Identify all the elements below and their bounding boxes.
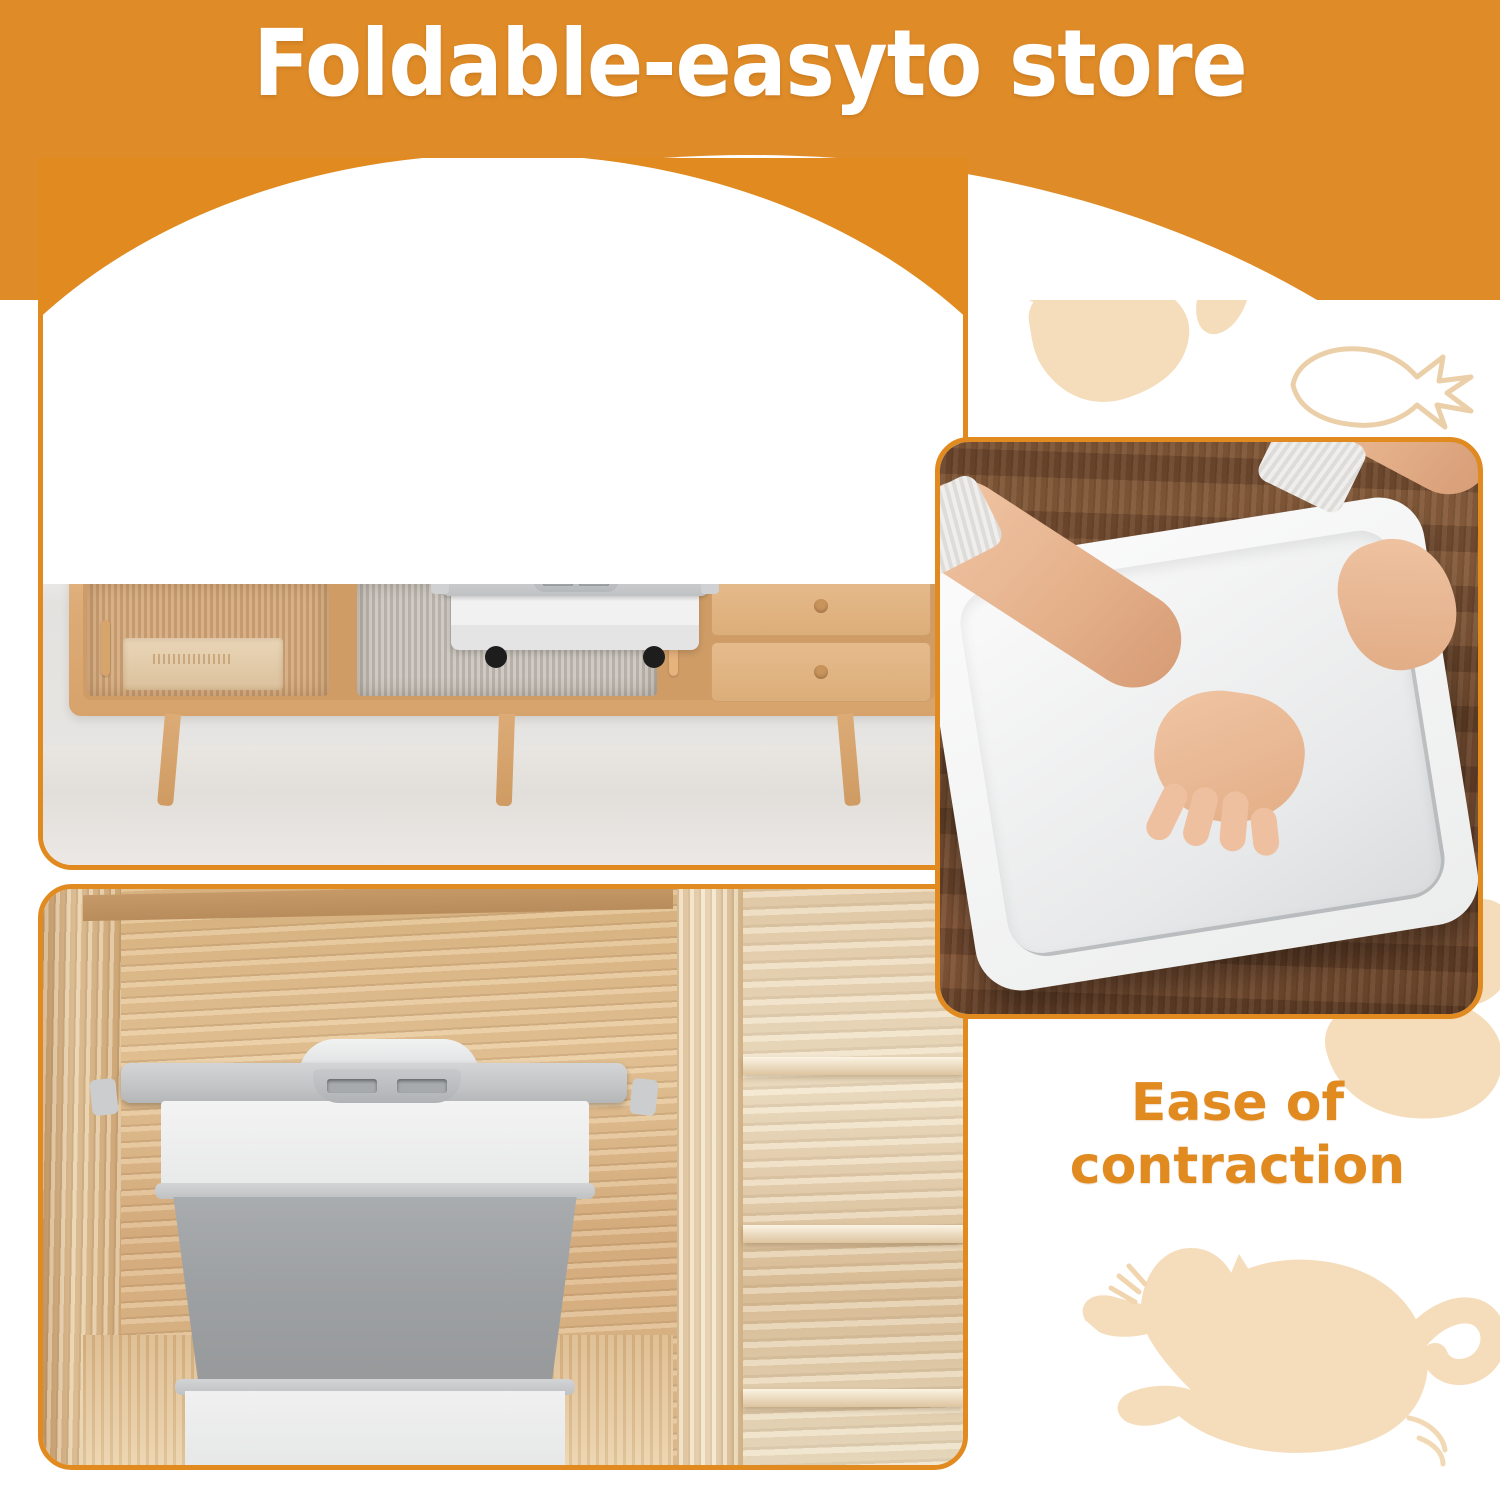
bin-base-section [185, 1391, 565, 1470]
bin-bellows-section [165, 1197, 585, 1385]
panel-bin-in-cabinet [38, 884, 968, 1470]
callout-line-1: Ease of [975, 1072, 1500, 1135]
shelf-board [743, 1389, 963, 1407]
woven-basket [123, 638, 283, 690]
panel-top-curve-mask [38, 158, 968, 348]
page-title: Foldable-easyto store [0, 18, 1500, 110]
cabinet-right-shelving [743, 889, 963, 1465]
bin-upper-section [161, 1101, 589, 1187]
fish-outline-icon [1275, 327, 1485, 437]
shelf-board [743, 1225, 963, 1243]
infographic-canvas: Ease of contraction Nygårds Karin Bengts… [0, 0, 1500, 1493]
panel-living-room-scene: Nygårds Karin Bengtsson Untold Stories F… [38, 158, 968, 870]
callout-line-2: contraction [975, 1135, 1500, 1198]
drawer-stack [711, 576, 931, 702]
cat-silhouette-icon [1015, 1192, 1500, 1492]
shelf-board [743, 1057, 963, 1075]
panel-hands-collapsing-basin [935, 437, 1483, 1019]
collapsible-storage-bin [139, 1057, 609, 1417]
cabinet-handle-left [101, 620, 110, 676]
callout-ease-of-contraction: Ease of contraction [975, 1072, 1500, 1199]
bin-handle [313, 1069, 461, 1103]
cabinet-divider [677, 889, 743, 1465]
